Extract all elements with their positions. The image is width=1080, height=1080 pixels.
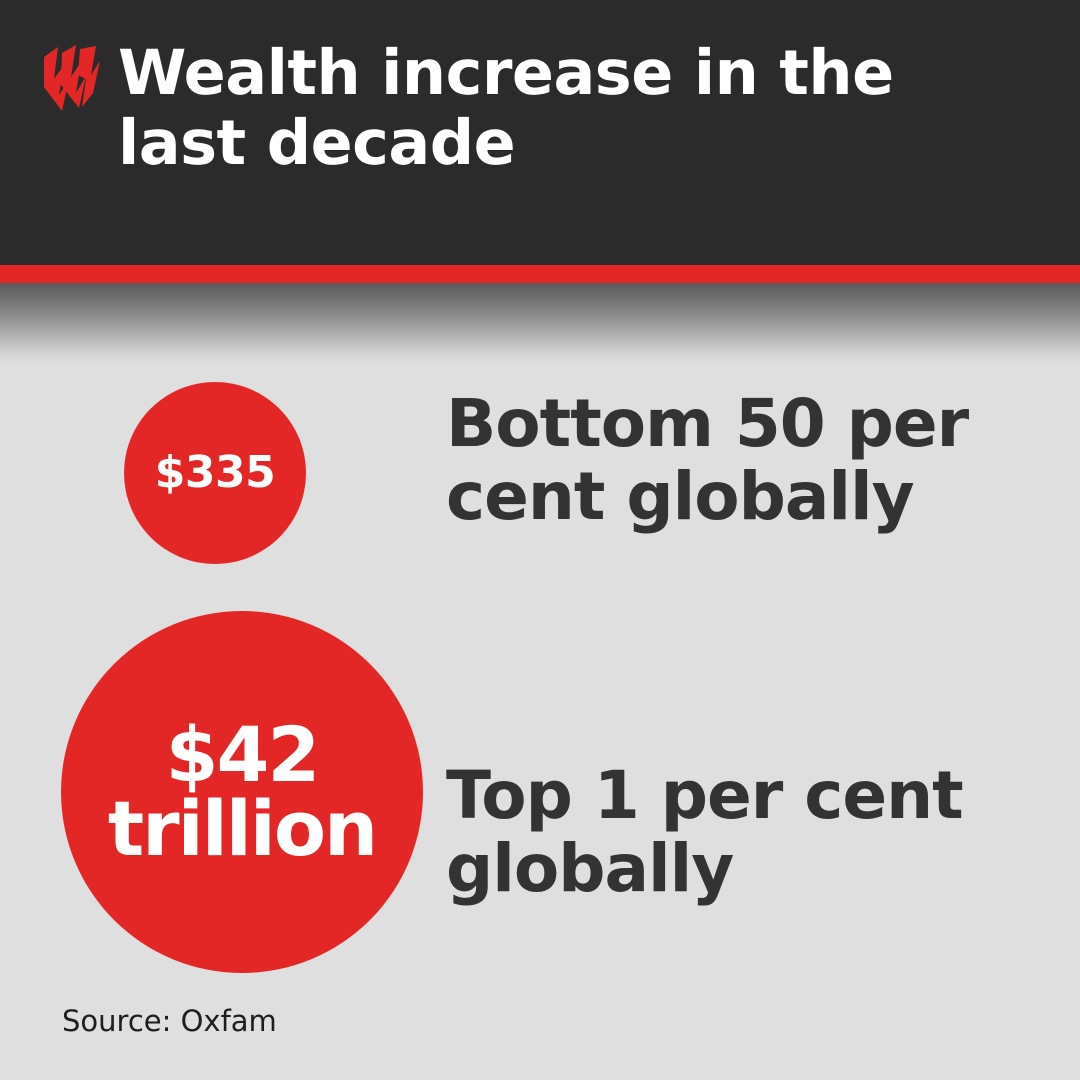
- sbs-flame-logo: [38, 45, 110, 115]
- stats-area: $335 Bottom 50 per cent globally $42 tri…: [0, 283, 1080, 1080]
- stat-label-top1: Top 1 per cent globally: [446, 760, 1056, 905]
- infographic-root: Wealth increase in the last decade $335 …: [0, 0, 1080, 1080]
- stat-bubble-value: $335: [155, 451, 275, 495]
- stat-row: $42 trillion Top 1 per cent globally: [0, 583, 1080, 1003]
- source-attribution: Source: Oxfam: [62, 1004, 277, 1038]
- stat-bubble-bottom50: $335: [124, 382, 306, 564]
- page-title: Wealth increase in the last decade: [118, 38, 1038, 178]
- stat-bubble-value: $42 trillion: [61, 718, 423, 867]
- header-bar: Wealth increase in the last decade: [0, 0, 1080, 265]
- stat-label-bottom50: Bottom 50 per cent globally: [446, 388, 1056, 533]
- header-shadow-gradient: [0, 283, 1080, 363]
- red-divider: [0, 265, 1080, 283]
- stat-bubble-top1: $42 trillion: [61, 611, 423, 973]
